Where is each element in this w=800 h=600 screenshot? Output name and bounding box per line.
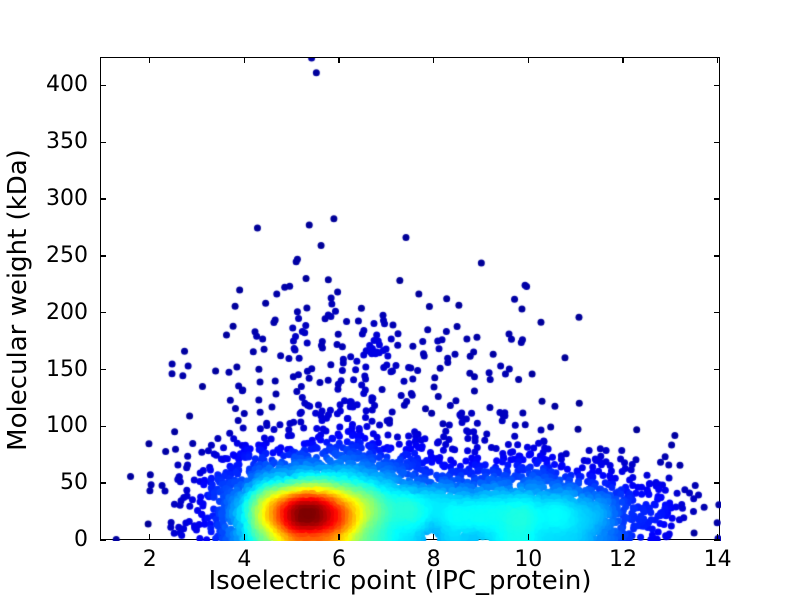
x-tick-mark-top bbox=[622, 57, 623, 63]
y-tick-mark bbox=[100, 142, 106, 143]
y-tick-label: 200 bbox=[20, 302, 88, 324]
x-tick-mark bbox=[622, 534, 623, 540]
density-scatter-plot bbox=[101, 58, 721, 541]
x-tick-mark bbox=[149, 534, 150, 540]
x-tick-mark bbox=[433, 534, 434, 540]
y-tick-mark-right bbox=[714, 198, 720, 199]
y-tick-mark bbox=[100, 482, 106, 483]
y-tick-mark-right bbox=[714, 85, 720, 86]
y-tick-label: 400 bbox=[20, 74, 88, 96]
y-tick-label: 300 bbox=[20, 188, 88, 210]
y-tick-mark bbox=[100, 198, 106, 199]
x-tick-mark bbox=[244, 534, 245, 540]
y-tick-mark-right bbox=[714, 255, 720, 256]
x-tick-mark-top bbox=[433, 57, 434, 63]
x-tick-mark-top bbox=[149, 57, 150, 63]
y-tick-mark bbox=[100, 369, 106, 370]
y-tick-mark bbox=[100, 539, 106, 540]
x-axis-title: Isoelectric point (IPC_protein) bbox=[0, 566, 800, 596]
y-tick-mark-right bbox=[714, 482, 720, 483]
y-tick-mark bbox=[100, 426, 106, 427]
x-tick-mark bbox=[528, 534, 529, 540]
x-tick-mark-top bbox=[528, 57, 529, 63]
y-tick-mark-right bbox=[714, 369, 720, 370]
plot-area bbox=[100, 57, 720, 540]
y-tick-label: 150 bbox=[20, 359, 88, 381]
y-tick-mark-right bbox=[714, 312, 720, 313]
x-tick-mark-top bbox=[338, 57, 339, 63]
x-tick-mark-top bbox=[244, 57, 245, 63]
y-tick-mark-right bbox=[714, 142, 720, 143]
y-tick-label: 100 bbox=[20, 415, 88, 437]
y-tick-mark-right bbox=[714, 426, 720, 427]
y-tick-mark bbox=[100, 85, 106, 86]
figure-canvas: Molecular weight (kDa) 05010015020025030… bbox=[0, 0, 800, 600]
x-tick-mark bbox=[717, 534, 718, 540]
x-tick-mark bbox=[338, 534, 339, 540]
x-tick-mark-top bbox=[717, 57, 718, 63]
y-tick-label: 0 bbox=[20, 529, 88, 551]
y-tick-label: 250 bbox=[20, 245, 88, 267]
y-tick-label: 350 bbox=[20, 131, 88, 153]
y-tick-mark bbox=[100, 255, 106, 256]
y-tick-label: 50 bbox=[20, 472, 88, 494]
y-tick-mark bbox=[100, 312, 106, 313]
